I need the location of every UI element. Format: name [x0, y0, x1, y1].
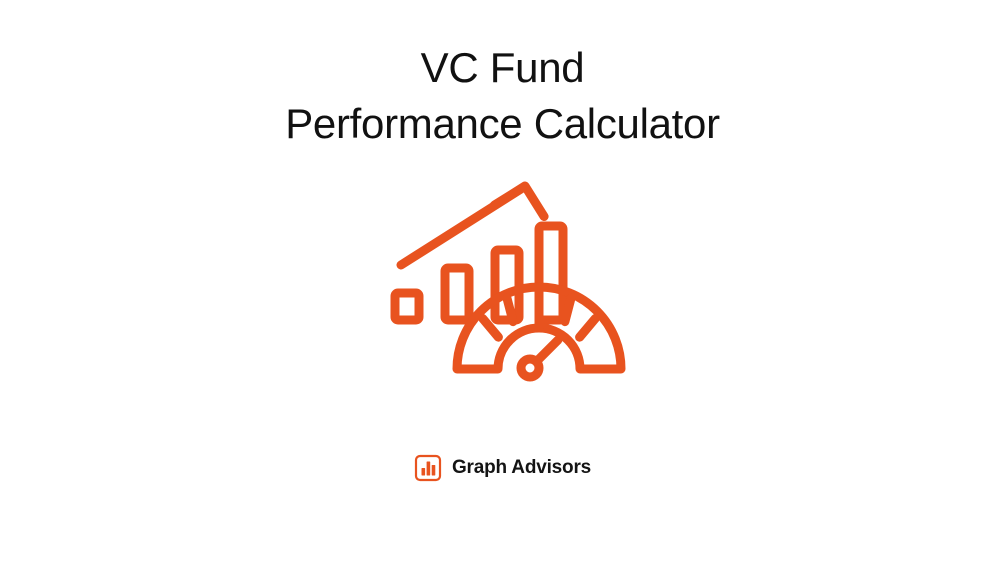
- chart-bar-1: [395, 293, 419, 320]
- logo-mark-bar-2: [427, 462, 431, 476]
- gauge-needle-pointer: [537, 340, 558, 361]
- slide-root: VC Fund Performance Calculator: [0, 0, 1005, 565]
- gauge-divider-2: [507, 298, 513, 321]
- gauge-needle-hub: [521, 359, 539, 377]
- chart-bar-2: [445, 268, 469, 320]
- brand-lockup: Graph Advisors: [0, 448, 1005, 488]
- logo-mark-bar-1: [421, 468, 425, 476]
- gauge-divider-4: [564, 298, 570, 321]
- gauge-divider-5: [579, 319, 595, 338]
- logo-mark-bar-3: [432, 465, 436, 476]
- hero-illustration: [0, 165, 1005, 390]
- page-title-line-1: VC Fund: [0, 40, 1005, 96]
- growth-gauge-illustration-svg: [373, 165, 633, 390]
- graph-advisors-logo-mark: [414, 454, 442, 482]
- page-title-line-2: Performance Calculator: [0, 96, 1005, 152]
- brand-name: Graph Advisors: [452, 457, 591, 479]
- page-title: VC Fund Performance Calculator: [0, 40, 1005, 152]
